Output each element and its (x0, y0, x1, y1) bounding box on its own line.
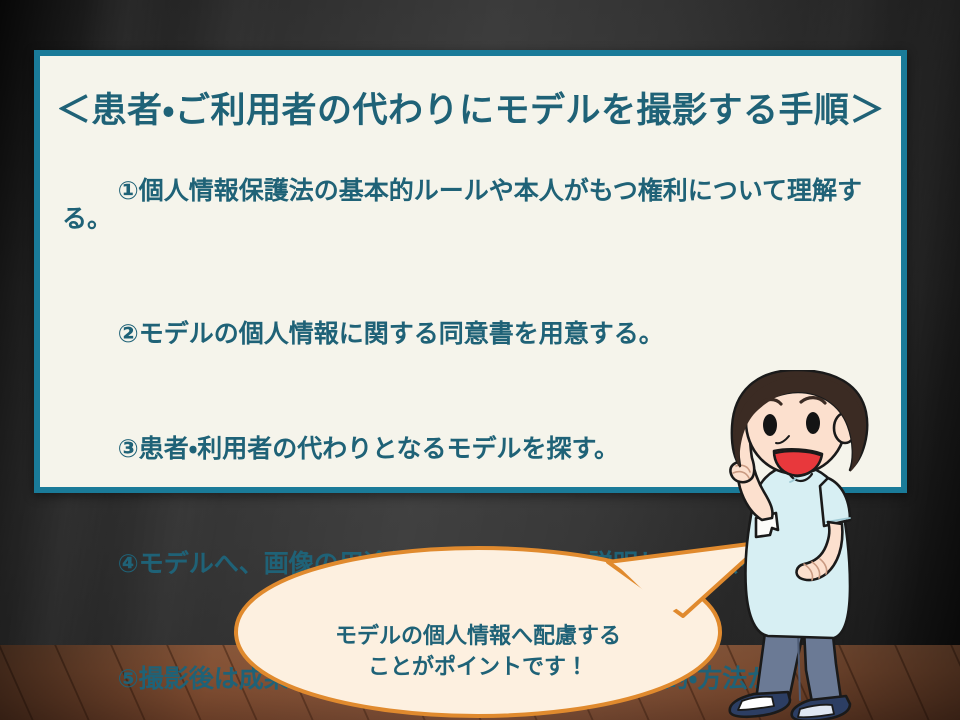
list-item-text: ③患者・利用者の代わりとなるモデルを探す。 (118, 435, 619, 463)
slide-canvas: ＜患者・ご利用者の代わりにモデルを撮影する手順＞ ①個人情報保護法の基本的ルール… (0, 0, 960, 720)
speech-bubble-shape (228, 540, 768, 720)
list-item: ①個人情報保護法の基本的ルールや本人がもつ権利について理解する。 (62, 149, 901, 261)
list-item-text: ①個人情報保護法の基本的ルールや本人がもつ権利について理解する。 (62, 177, 862, 233)
character-illustration (700, 370, 960, 720)
list-item: ②モデルの個人情報に関する同意書を用意する。 (62, 292, 901, 376)
speech-bubble: モデルの個人情報へ配慮する ことがポイントです！ (228, 540, 768, 720)
list-item-text: ②モデルの個人情報に関する同意書を用意する。 (118, 320, 664, 348)
page-title: ＜患者・ご利用者の代わりにモデルを撮影する手順＞ (40, 82, 901, 133)
